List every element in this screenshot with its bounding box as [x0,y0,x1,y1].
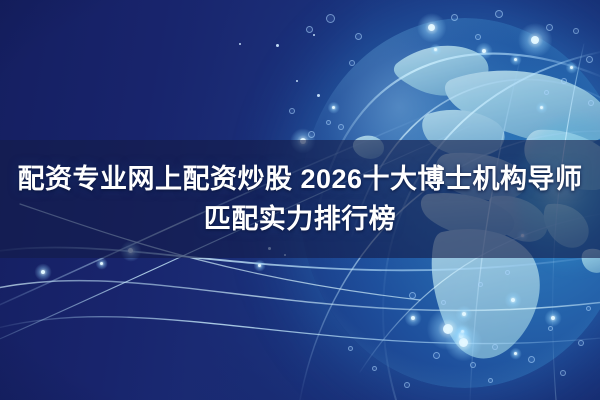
banner-image: 配资专业网上配资炒股 2026十大博士机构导师 匹配实力排行榜 [0,0,600,400]
title-line-2: 匹配实力排行榜 [204,200,397,238]
title-line-1: 配资专业网上配资炒股 2026十大博士机构导师 [17,160,582,198]
banner-title: 配资专业网上配资炒股 2026十大博士机构导师 匹配实力排行榜 [0,140,600,258]
